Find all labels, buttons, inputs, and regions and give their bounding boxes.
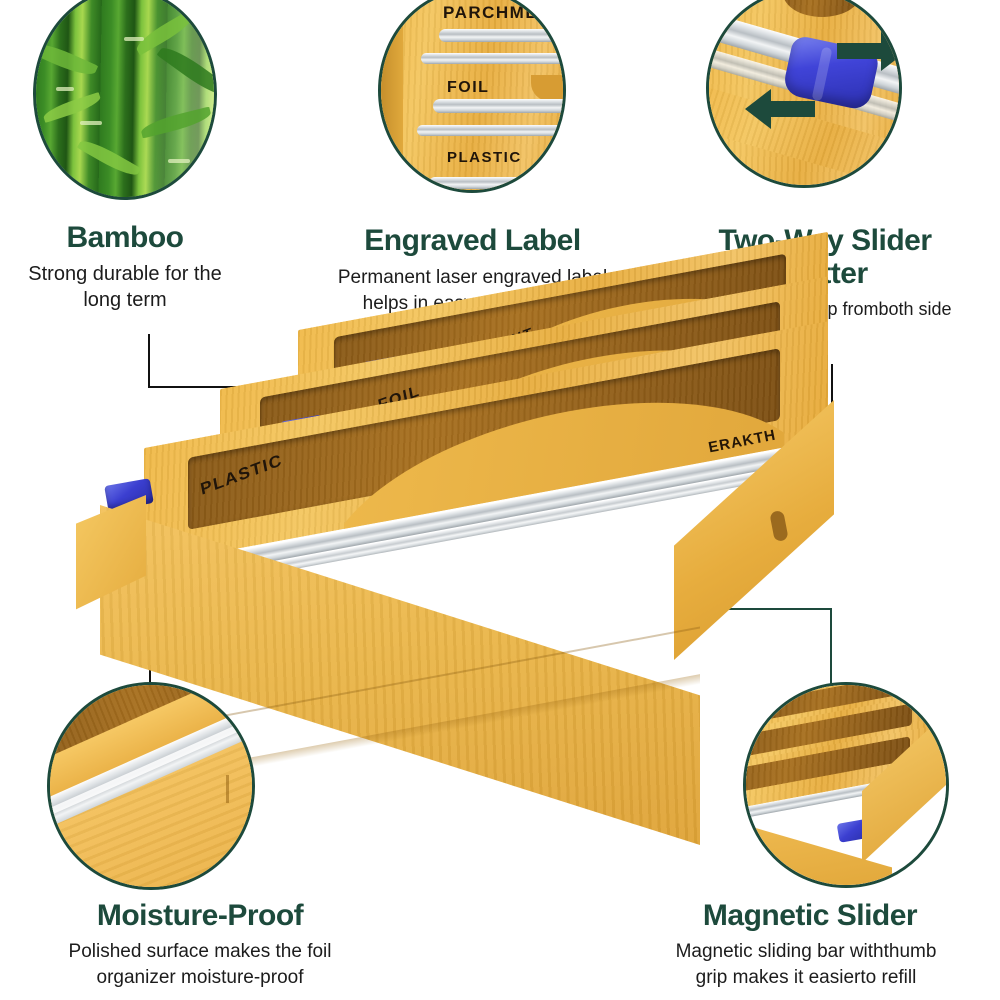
slider-photo-cutout [783, 0, 861, 17]
label-photo-rail-4 [417, 125, 566, 136]
polished-surface-closeup-photo [47, 682, 255, 890]
engraved-label-text-foil: FOIL [447, 79, 489, 97]
bamboo-image-content [36, 0, 214, 197]
label-photo-rail-3 [433, 99, 566, 113]
label-photo-rail-1 [439, 29, 566, 42]
moisture-proof-heading: Moisture-Proof [0, 900, 400, 932]
engraved-label-closeup-photo: PARCHMENT FOIL PLASTIC [378, 0, 566, 193]
magnetic-slider-heading: Magnetic Slider [620, 900, 1000, 932]
magnetic-photo-body [743, 697, 946, 887]
moisture-proof-description-line-2: organizer moisture-proof [0, 966, 400, 990]
blue-slider-cutter-closeup-photo [706, 0, 902, 188]
label-photo-rail-5 [429, 177, 566, 189]
bamboo-description-line-2: long term [10, 288, 240, 314]
moisture-photo-content [50, 685, 252, 887]
engraved-label-image-content: PARCHMENT FOIL PLASTIC [381, 0, 563, 190]
arrow-right-icon [837, 29, 902, 75]
magnetic-slider-corner-photo [743, 682, 949, 888]
infographic-canvas: Bamboo Strong durable for the long term … [0, 0, 1000, 1000]
arrow-left-icon [743, 87, 815, 133]
moisture-proof-description-line-1: Polished surface makes the foil [0, 940, 400, 964]
label-photo-left-edge [381, 0, 403, 190]
bamboo-forest-photo [33, 0, 217, 200]
magnetic-slider-description-line-1: Magnetic sliding bar withthumb [612, 940, 1000, 964]
engraved-label-text-parchment: PARCHMENT [443, 3, 564, 23]
bamboo-heading: Bamboo [20, 222, 230, 254]
slider-photo-content [709, 0, 899, 185]
label-photo-rail-2 [421, 53, 566, 64]
magnetic-slider-description-line-2: grip makes it easierto refill [612, 966, 1000, 990]
bamboo-description-line-1: Strong durable for the [10, 262, 240, 288]
moisture-photo-seam [226, 775, 229, 803]
engraved-label-text-plastic: PLASTIC [447, 149, 522, 166]
magnetic-photo-content [746, 685, 946, 885]
label-photo-notch [531, 75, 566, 101]
engraved-label-heading: Engraved Label [300, 225, 645, 257]
